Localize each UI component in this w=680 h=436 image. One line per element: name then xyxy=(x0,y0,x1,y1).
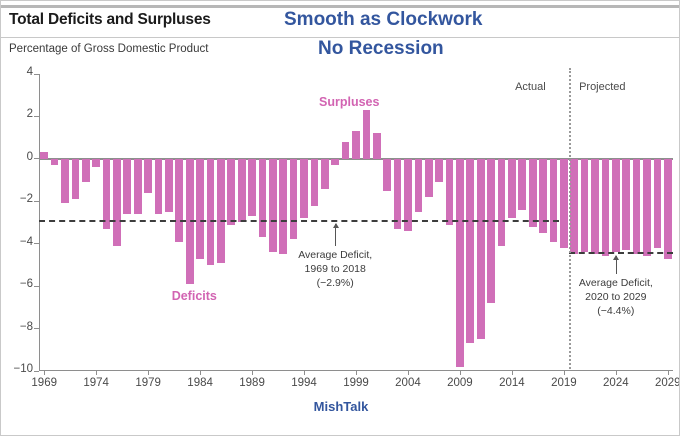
x-axis-label-2029: 2029 xyxy=(646,377,680,389)
bar-2014 xyxy=(508,159,516,218)
bar-2012 xyxy=(487,159,495,303)
x-tick-1999 xyxy=(356,370,357,375)
x-axis-label-1969: 1969 xyxy=(22,377,66,389)
bar-1980 xyxy=(155,159,163,214)
y-tick--2 xyxy=(34,201,39,202)
y-tick--6 xyxy=(34,286,39,287)
bar-2011 xyxy=(477,159,485,339)
bar-2000 xyxy=(363,110,371,159)
bar-1993 xyxy=(290,159,298,240)
bar-2002 xyxy=(383,159,391,191)
bar-2010 xyxy=(466,159,474,344)
bar-2026 xyxy=(633,159,641,254)
page-title: Total Deficits and Surpluses xyxy=(9,11,211,29)
x-tick-2014 xyxy=(512,370,513,375)
bar-2027 xyxy=(643,159,651,257)
bar-1978 xyxy=(134,159,142,214)
y-tick--8 xyxy=(34,328,39,329)
y-tick-2 xyxy=(34,116,39,117)
x-tick-1994 xyxy=(304,370,305,375)
bar-1981 xyxy=(165,159,173,212)
bar-1986 xyxy=(217,159,225,263)
x-tick-1989 xyxy=(252,370,253,375)
bar-2008 xyxy=(446,159,454,225)
bar-2021 xyxy=(581,159,589,252)
chart-subtitle: Percentage of Gross Domestic Product xyxy=(9,43,208,55)
chart-figure: Total Deficits and Surpluses Percentage … xyxy=(0,0,680,436)
y-tick--10 xyxy=(34,371,39,372)
bar-1998 xyxy=(342,142,350,159)
bar-1992 xyxy=(279,159,287,254)
x-tick-2004 xyxy=(408,370,409,375)
average-deficit-annotation-1969-2018: Average Deficit,1969 to 2018(−2.9%) xyxy=(265,248,405,290)
x-axis-label-2004: 2004 xyxy=(386,377,430,389)
bar-2028 xyxy=(654,159,662,248)
bar-2007 xyxy=(435,159,443,182)
y-axis-line xyxy=(39,74,40,371)
y-axis-label--2: −2 xyxy=(3,193,33,205)
bar-1989 xyxy=(248,159,256,216)
y-tick-0 xyxy=(34,158,39,159)
y-axis-label--6: −6 xyxy=(3,278,33,290)
y-axis-label-4: 4 xyxy=(3,66,33,78)
label-actual: Actual xyxy=(515,81,546,93)
x-axis-label-1984: 1984 xyxy=(178,377,222,389)
x-axis-label-2009: 2009 xyxy=(438,377,482,389)
bar-1997 xyxy=(331,159,339,165)
avg-left-line-3: (−2.9%) xyxy=(265,276,405,290)
bar-2013 xyxy=(498,159,506,246)
bar-1982 xyxy=(175,159,183,242)
bar-1987 xyxy=(227,159,235,225)
bar-1969 xyxy=(40,152,48,158)
x-axis-label-1994: 1994 xyxy=(282,377,326,389)
bar-2003 xyxy=(394,159,402,229)
bar-1979 xyxy=(144,159,152,193)
x-tick-2009 xyxy=(460,370,461,375)
bar-1996 xyxy=(321,159,329,189)
x-axis-label-1979: 1979 xyxy=(126,377,170,389)
bar-2029 xyxy=(664,159,672,259)
bar-2006 xyxy=(425,159,433,197)
x-tick-1979 xyxy=(148,370,149,375)
bar-1990 xyxy=(259,159,267,237)
x-tick-1974 xyxy=(96,370,97,375)
x-axis-label-2014: 2014 xyxy=(490,377,534,389)
bar-1975 xyxy=(103,159,111,229)
bar-2020 xyxy=(570,159,578,254)
y-tick--4 xyxy=(34,243,39,244)
bar-2015 xyxy=(518,159,526,210)
avg-right-line-2: 2020 to 2029 xyxy=(546,290,680,304)
average-deficit-line-1969-2018 xyxy=(39,220,559,222)
bar-1999 xyxy=(352,131,360,159)
bar-1973 xyxy=(82,159,90,182)
bar-2022 xyxy=(591,159,599,254)
bar-2005 xyxy=(415,159,423,212)
avg-left-line-1: Average Deficit, xyxy=(265,248,405,262)
bar-1970 xyxy=(51,159,59,165)
x-tick-1969 xyxy=(44,370,45,375)
annotation-smooth-as-clockwork: Smooth as Clockwork xyxy=(284,9,483,31)
bar-2024 xyxy=(612,159,620,252)
bar-1984 xyxy=(196,159,204,259)
average-deficit-arrow-2020-2029 xyxy=(616,256,617,274)
bar-1977 xyxy=(123,159,131,214)
y-axis-label--4: −4 xyxy=(3,236,33,248)
bar-1972 xyxy=(72,159,80,199)
annotation-no-recession: No Recession xyxy=(318,38,444,60)
bar-2018 xyxy=(550,159,558,242)
label-projected: Projected xyxy=(579,81,625,93)
label-surpluses: Surpluses xyxy=(319,95,379,109)
bar-2025 xyxy=(622,159,630,250)
avg-left-line-2: 1969 to 2018 xyxy=(265,262,405,276)
y-axis-label-0: 0 xyxy=(3,151,33,163)
bar-1974 xyxy=(92,159,100,167)
bar-1994 xyxy=(300,159,308,218)
average-deficit-annotation-2020-2029: Average Deficit,2020 to 2029(−4.4%) xyxy=(546,276,680,318)
actual-projected-divider xyxy=(569,68,571,369)
x-axis-label-1989: 1989 xyxy=(230,377,274,389)
x-tick-2029 xyxy=(668,370,669,375)
plot-area: 420−2−4−6−8−1019691974197919841989199419… xyxy=(39,74,673,371)
bar-1976 xyxy=(113,159,121,246)
average-deficit-line-2020-2029 xyxy=(569,252,673,254)
watermark: MishTalk xyxy=(1,399,680,414)
bar-1971 xyxy=(61,159,69,204)
y-axis-label-2: 2 xyxy=(3,108,33,120)
bar-1995 xyxy=(311,159,319,206)
bar-2019 xyxy=(560,159,568,248)
x-axis-label-2024: 2024 xyxy=(594,377,638,389)
bar-1988 xyxy=(238,159,246,223)
header-rule-top xyxy=(1,5,680,8)
bar-2009 xyxy=(456,159,464,367)
x-axis-label-2019: 2019 xyxy=(542,377,586,389)
x-axis-label-1974: 1974 xyxy=(74,377,118,389)
bar-2016 xyxy=(529,159,537,227)
bar-1985 xyxy=(207,159,215,265)
average-deficit-arrow-1969-2018 xyxy=(335,224,336,246)
y-tick-4 xyxy=(34,74,39,75)
x-tick-2019 xyxy=(564,370,565,375)
x-axis-label-1999: 1999 xyxy=(334,377,378,389)
label-deficits: Deficits xyxy=(172,289,217,303)
avg-right-line-1: Average Deficit, xyxy=(546,276,680,290)
avg-right-line-3: (−4.4%) xyxy=(546,304,680,318)
y-axis-label--10: −10 xyxy=(3,363,33,375)
x-tick-2024 xyxy=(616,370,617,375)
bar-2023 xyxy=(602,159,610,257)
bar-1991 xyxy=(269,159,277,252)
x-tick-1984 xyxy=(200,370,201,375)
bar-2001 xyxy=(373,133,381,158)
y-axis-label--8: −8 xyxy=(3,321,33,333)
